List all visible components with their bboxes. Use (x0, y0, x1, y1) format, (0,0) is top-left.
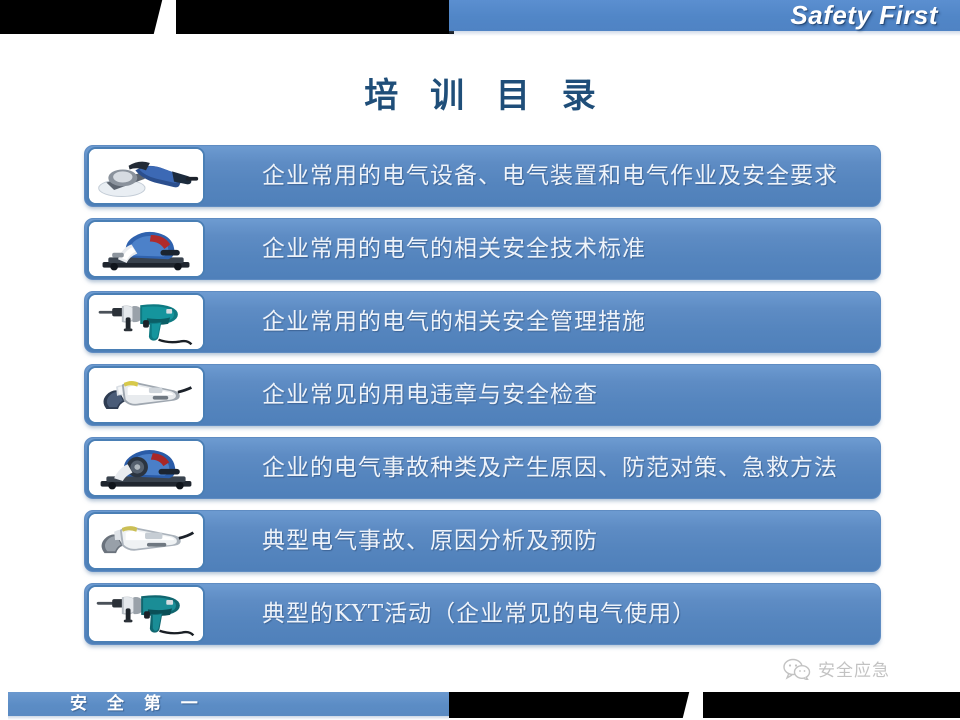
header-black-block-right (176, 0, 454, 34)
slide-canvas: Safety First 培 训 目 录 (0, 0, 960, 720)
list-item[interactable]: 企业的电气事故种类及产生原因、防范对策、急救方法 (84, 437, 881, 502)
header-bar: Safety First (0, 0, 960, 34)
agenda-list: 企业常用的电气设备、电气装置和电气作业及安全要求 (84, 145, 881, 656)
list-item-label: 企业常用的电气的相关安全技术标准 (262, 218, 646, 280)
list-item-label: 企业常用的电气的相关安全管理措施 (262, 291, 646, 353)
footer-blue-shadow (8, 716, 449, 720)
list-item[interactable]: 企业常用的电气设备、电气装置和电气作业及安全要求 (84, 145, 881, 210)
list-item[interactable]: 典型电气事故、原因分析及预防 (84, 510, 881, 575)
footer-black-block-right (703, 692, 960, 718)
footer-slogan: 安 全 第 一 (70, 692, 205, 716)
footer-bar: 安 全 第 一 (0, 692, 960, 720)
chop-saw-photo (87, 220, 205, 278)
angle-grinder-photo (87, 512, 205, 570)
list-item-label: 企业的电气事故种类及产生原因、防范对策、急救方法 (262, 437, 838, 499)
list-item-label: 企业常用的电气设备、电气装置和电气作业及安全要求 (262, 145, 838, 207)
watermark-label: 安全应急 (818, 656, 890, 681)
header-black-block-left (0, 0, 166, 34)
footer-black-block-left (449, 692, 693, 718)
chop-saw-photo (87, 439, 205, 497)
list-item[interactable]: 企业常见的用电违章与安全检查 (84, 364, 881, 429)
list-item-label: 企业常见的用电违章与安全检查 (262, 364, 598, 426)
list-item[interactable]: 企业常用的电气的相关安全技术标准 (84, 218, 881, 283)
list-item[interactable]: 典型的KYT活动（企业常见的电气使用） (84, 583, 881, 648)
list-item[interactable]: 企业常用的电气的相关安全管理措施 (84, 291, 881, 356)
angle-polisher-photo (87, 147, 205, 205)
brand-title: Safety First (790, 0, 938, 32)
page-title: 培 训 目 录 (0, 68, 960, 117)
list-item-label: 典型的KYT活动（企业常见的电气使用） (262, 583, 696, 645)
list-item-label: 典型电气事故、原因分析及预防 (262, 510, 598, 572)
electric-drill-photo (87, 293, 205, 351)
angle-grinder-photo (87, 366, 205, 424)
wechat-watermark: 安全应急 (782, 656, 890, 681)
wechat-bubbles-icon (782, 658, 812, 680)
electric-drill-photo (87, 585, 205, 643)
